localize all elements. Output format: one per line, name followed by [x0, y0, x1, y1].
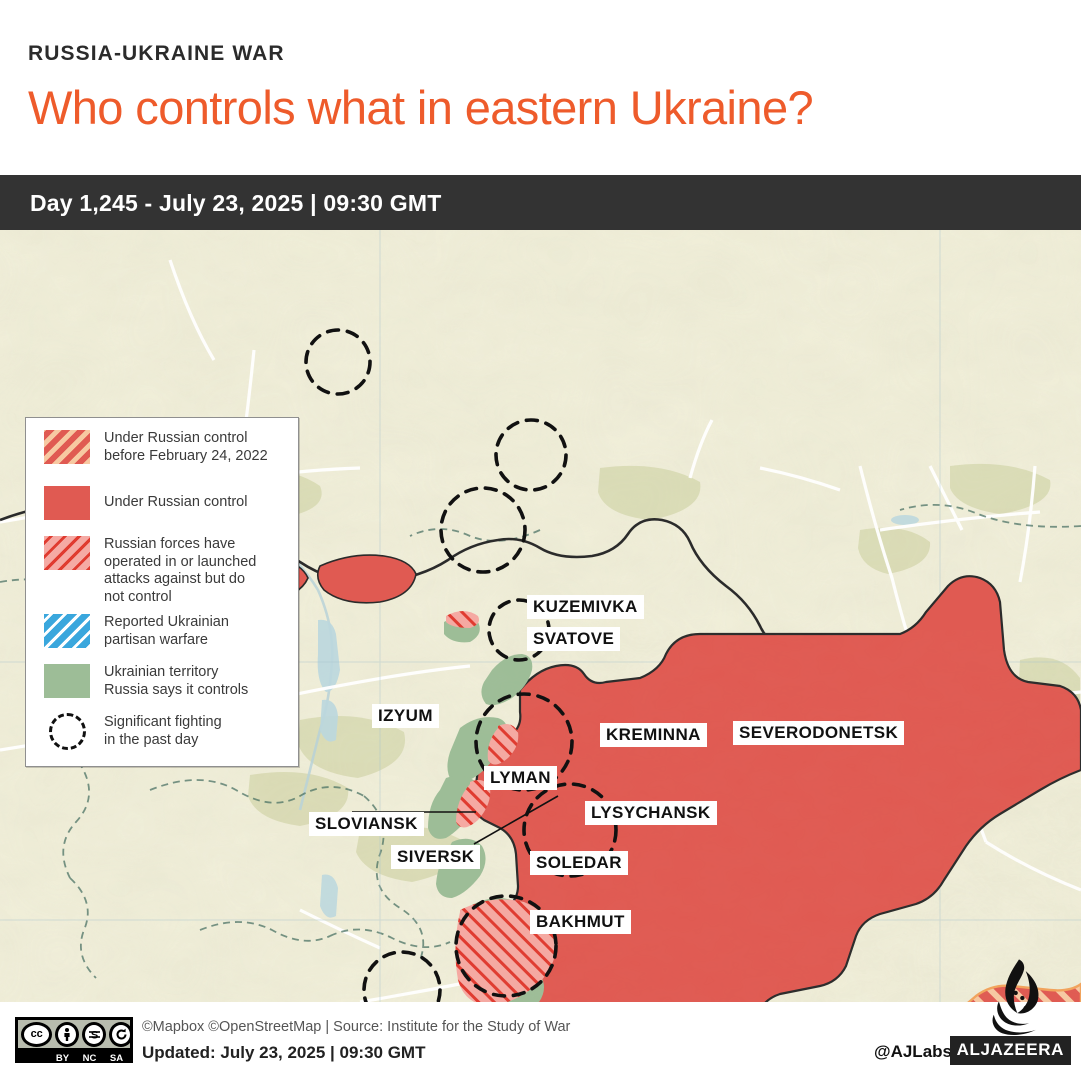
source-attribution: ©Mapbox ©OpenStreetMap | Source: Institu… [142, 1019, 570, 1035]
share-alike-icon [114, 1027, 129, 1042]
cc-by-label: BY [49, 1053, 76, 1064]
creative-commons-badge: cc S [15, 1017, 133, 1063]
legend-text-line: Russia says it controls [104, 682, 248, 700]
city-label-lyman: LYMAN [484, 766, 557, 790]
legend-text-line: Under Russian control [104, 430, 268, 448]
city-label-kuzemivka: KUZEMIVKA [527, 595, 644, 619]
city-label-svatove: SVATOVE [527, 627, 620, 651]
city-label-sloviansk: SLOVIANSK [309, 812, 424, 836]
legend-label-pre2022: Under Russian control before February 24… [104, 430, 268, 465]
legend-text-line: Reported Ukrainian [104, 614, 229, 632]
aljazeera-logo-icon [977, 955, 1061, 1041]
city-label-severodonetsk: SEVERODONETSK [733, 721, 904, 745]
map-legend: Under Russian control before February 24… [25, 417, 299, 767]
updated-timestamp: Updated: July 23, 2025 | 09:30 GMT [142, 1043, 425, 1063]
cc-by-icon [55, 1022, 79, 1047]
legend-item-operations: Russian forces have operated in or launc… [44, 536, 256, 606]
dashed-circle-icon [49, 713, 86, 750]
header: RUSSIA-UKRAINE WAR Who controls what in … [0, 0, 1081, 175]
legend-label-fighting: Significant fighting in the past day [104, 714, 222, 749]
legend-text-line: attacks against but do [104, 571, 256, 589]
legend-label-claimed: Ukrainian territory Russia says it contr… [104, 664, 248, 699]
cc-sa-label: SA [103, 1053, 130, 1064]
legend-text-line: Significant fighting [104, 714, 222, 732]
legend-text-line: Under Russian control [104, 494, 247, 512]
legend-swatch-control [44, 486, 90, 520]
page-title: Who controls what in eastern Ukraine? [28, 80, 813, 135]
no-money-icon: S [87, 1027, 102, 1042]
person-icon [60, 1027, 74, 1041]
legend-swatch-partisan [44, 614, 90, 648]
legend-text-line: before February 24, 2022 [104, 448, 268, 466]
legend-item-fighting: Significant fighting in the past day [44, 714, 222, 749]
legend-swatch-operations [44, 536, 90, 570]
cc-label-row: BY NC SA [18, 1051, 130, 1065]
kicker-label: RUSSIA-UKRAINE WAR [28, 42, 285, 66]
city-label-bakhmut: BAKHMUT [530, 910, 631, 934]
cc-sa-icon [109, 1022, 133, 1047]
legend-item-claimed: Ukrainian territory Russia says it contr… [44, 664, 248, 699]
cc-icon-row: cc S [18, 1020, 133, 1048]
date-bar: Day 1,245 - July 23, 2025 | 09:30 GMT [0, 175, 1081, 230]
legend-text-line: not control [104, 589, 256, 607]
legend-text-line: Russian forces have [104, 536, 256, 554]
legend-text-line: Ukrainian territory [104, 664, 248, 682]
legend-text-line: partisan warfare [104, 632, 229, 650]
legend-swatch-claimed [44, 664, 90, 698]
frontline-sliver-north [444, 611, 480, 642]
legend-label-partisan: Reported Ukrainian partisan warfare [104, 614, 229, 649]
city-label-lysychansk: LYSYCHANSK [585, 801, 717, 825]
cc-nc-label: NC [76, 1053, 103, 1064]
legend-text-line: in the past day [104, 732, 222, 750]
cc-nc-icon: S [82, 1022, 106, 1047]
legend-swatch-fighting [44, 714, 90, 748]
legend-item-control: Under Russian control [44, 486, 247, 520]
infographic-page: RUSSIA-UKRAINE WAR Who controls what in … [0, 0, 1081, 1081]
legend-swatch-pre2022 [44, 430, 90, 464]
city-label-soledar: SOLEDAR [530, 851, 628, 875]
legend-label-operations: Russian forces have operated in or launc… [104, 536, 256, 606]
legend-item-pre2022: Under Russian control before February 24… [44, 430, 268, 465]
cc-badge-top: cc S [18, 1020, 130, 1048]
ajlabs-handle: @AJLabs [874, 1042, 952, 1062]
map-canvas[interactable]: Under Russian control before February 24… [0, 230, 1081, 1002]
date-bar-text: Day 1,245 - July 23, 2025 | 09:30 GMT [30, 190, 441, 217]
cc-icon: cc [21, 1022, 52, 1047]
relief-overlay [480, 630, 1081, 1002]
city-label-kreminna: KREMINNA [600, 723, 707, 747]
legend-text-line: operated in or launched [104, 554, 256, 572]
city-label-izyum: IZYUM [372, 704, 439, 728]
legend-label-control: Under Russian control [104, 486, 247, 512]
city-label-siversk: SIVERSK [391, 845, 480, 869]
legend-item-partisan: Reported Ukrainian partisan warfare [44, 614, 229, 649]
